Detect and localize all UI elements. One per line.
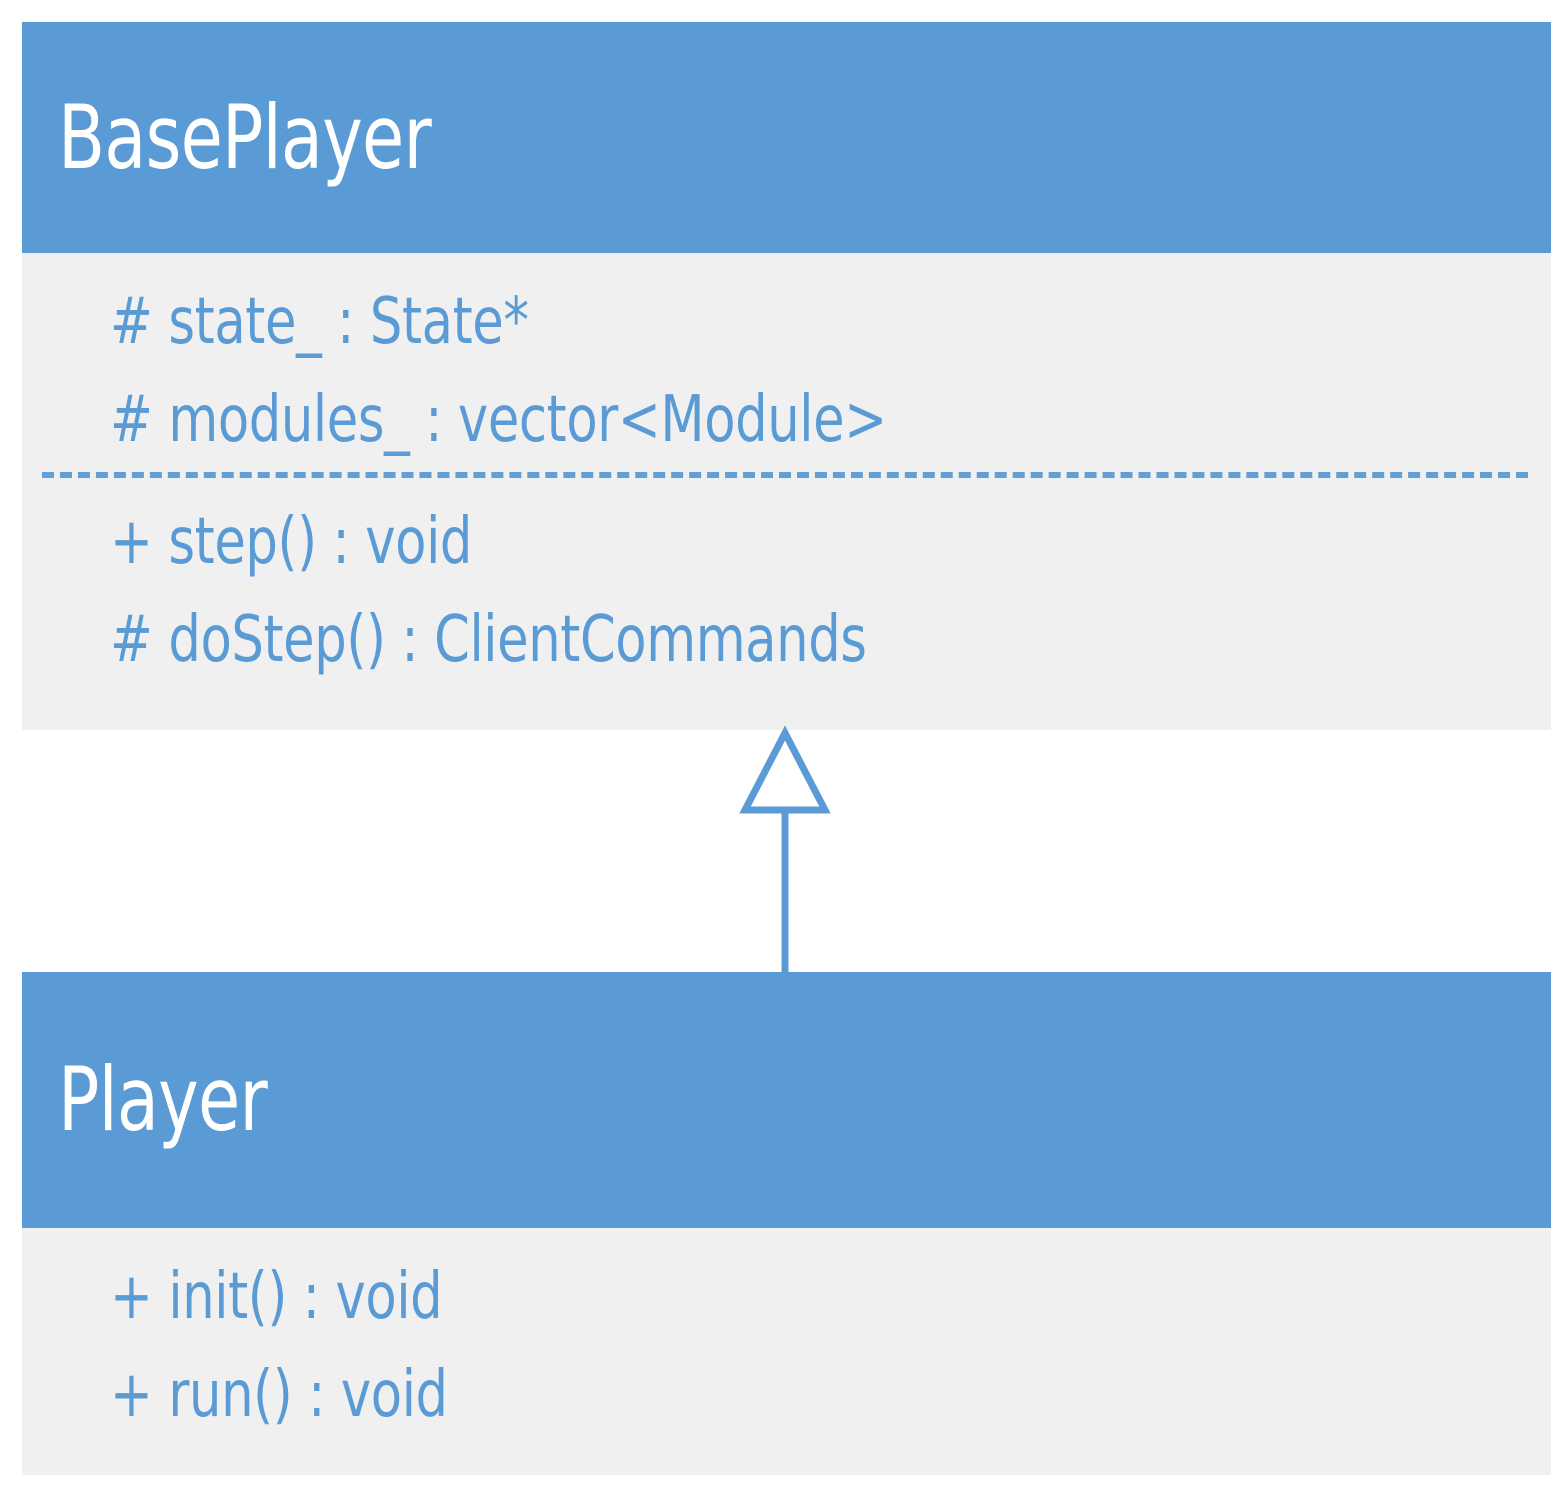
class-operation: # doStep() : ClientCommands xyxy=(110,591,1263,689)
class-operation: + run() : void xyxy=(110,1346,1263,1444)
class-attribute: # modules_ : vector<Module> xyxy=(110,371,1263,469)
class-box-base-player[interactable]: BasePlayer # state_ : State* # modules_ … xyxy=(22,22,1551,730)
class-attribute: # state_ : State* xyxy=(110,273,1263,371)
class-header-player: Player xyxy=(22,972,1551,1228)
class-box-player[interactable]: Player + init() : void + run() : void xyxy=(22,972,1551,1475)
class-header-base-player: BasePlayer xyxy=(22,22,1551,253)
class-name-player: Player xyxy=(58,1056,267,1144)
class-body-base-player: # state_ : State* # modules_ : vector<Mo… xyxy=(22,253,1551,730)
uml-diagram-canvas: BasePlayer # state_ : State* # modules_ … xyxy=(0,0,1556,1494)
compartment-divider xyxy=(42,472,1528,478)
hollow-triangle-icon xyxy=(745,733,825,810)
class-operation: + init() : void xyxy=(110,1248,1263,1346)
class-name-base-player: BasePlayer xyxy=(58,94,431,182)
class-body-player: + init() : void + run() : void xyxy=(22,1228,1551,1475)
class-operation: + step() : void xyxy=(110,493,1263,591)
